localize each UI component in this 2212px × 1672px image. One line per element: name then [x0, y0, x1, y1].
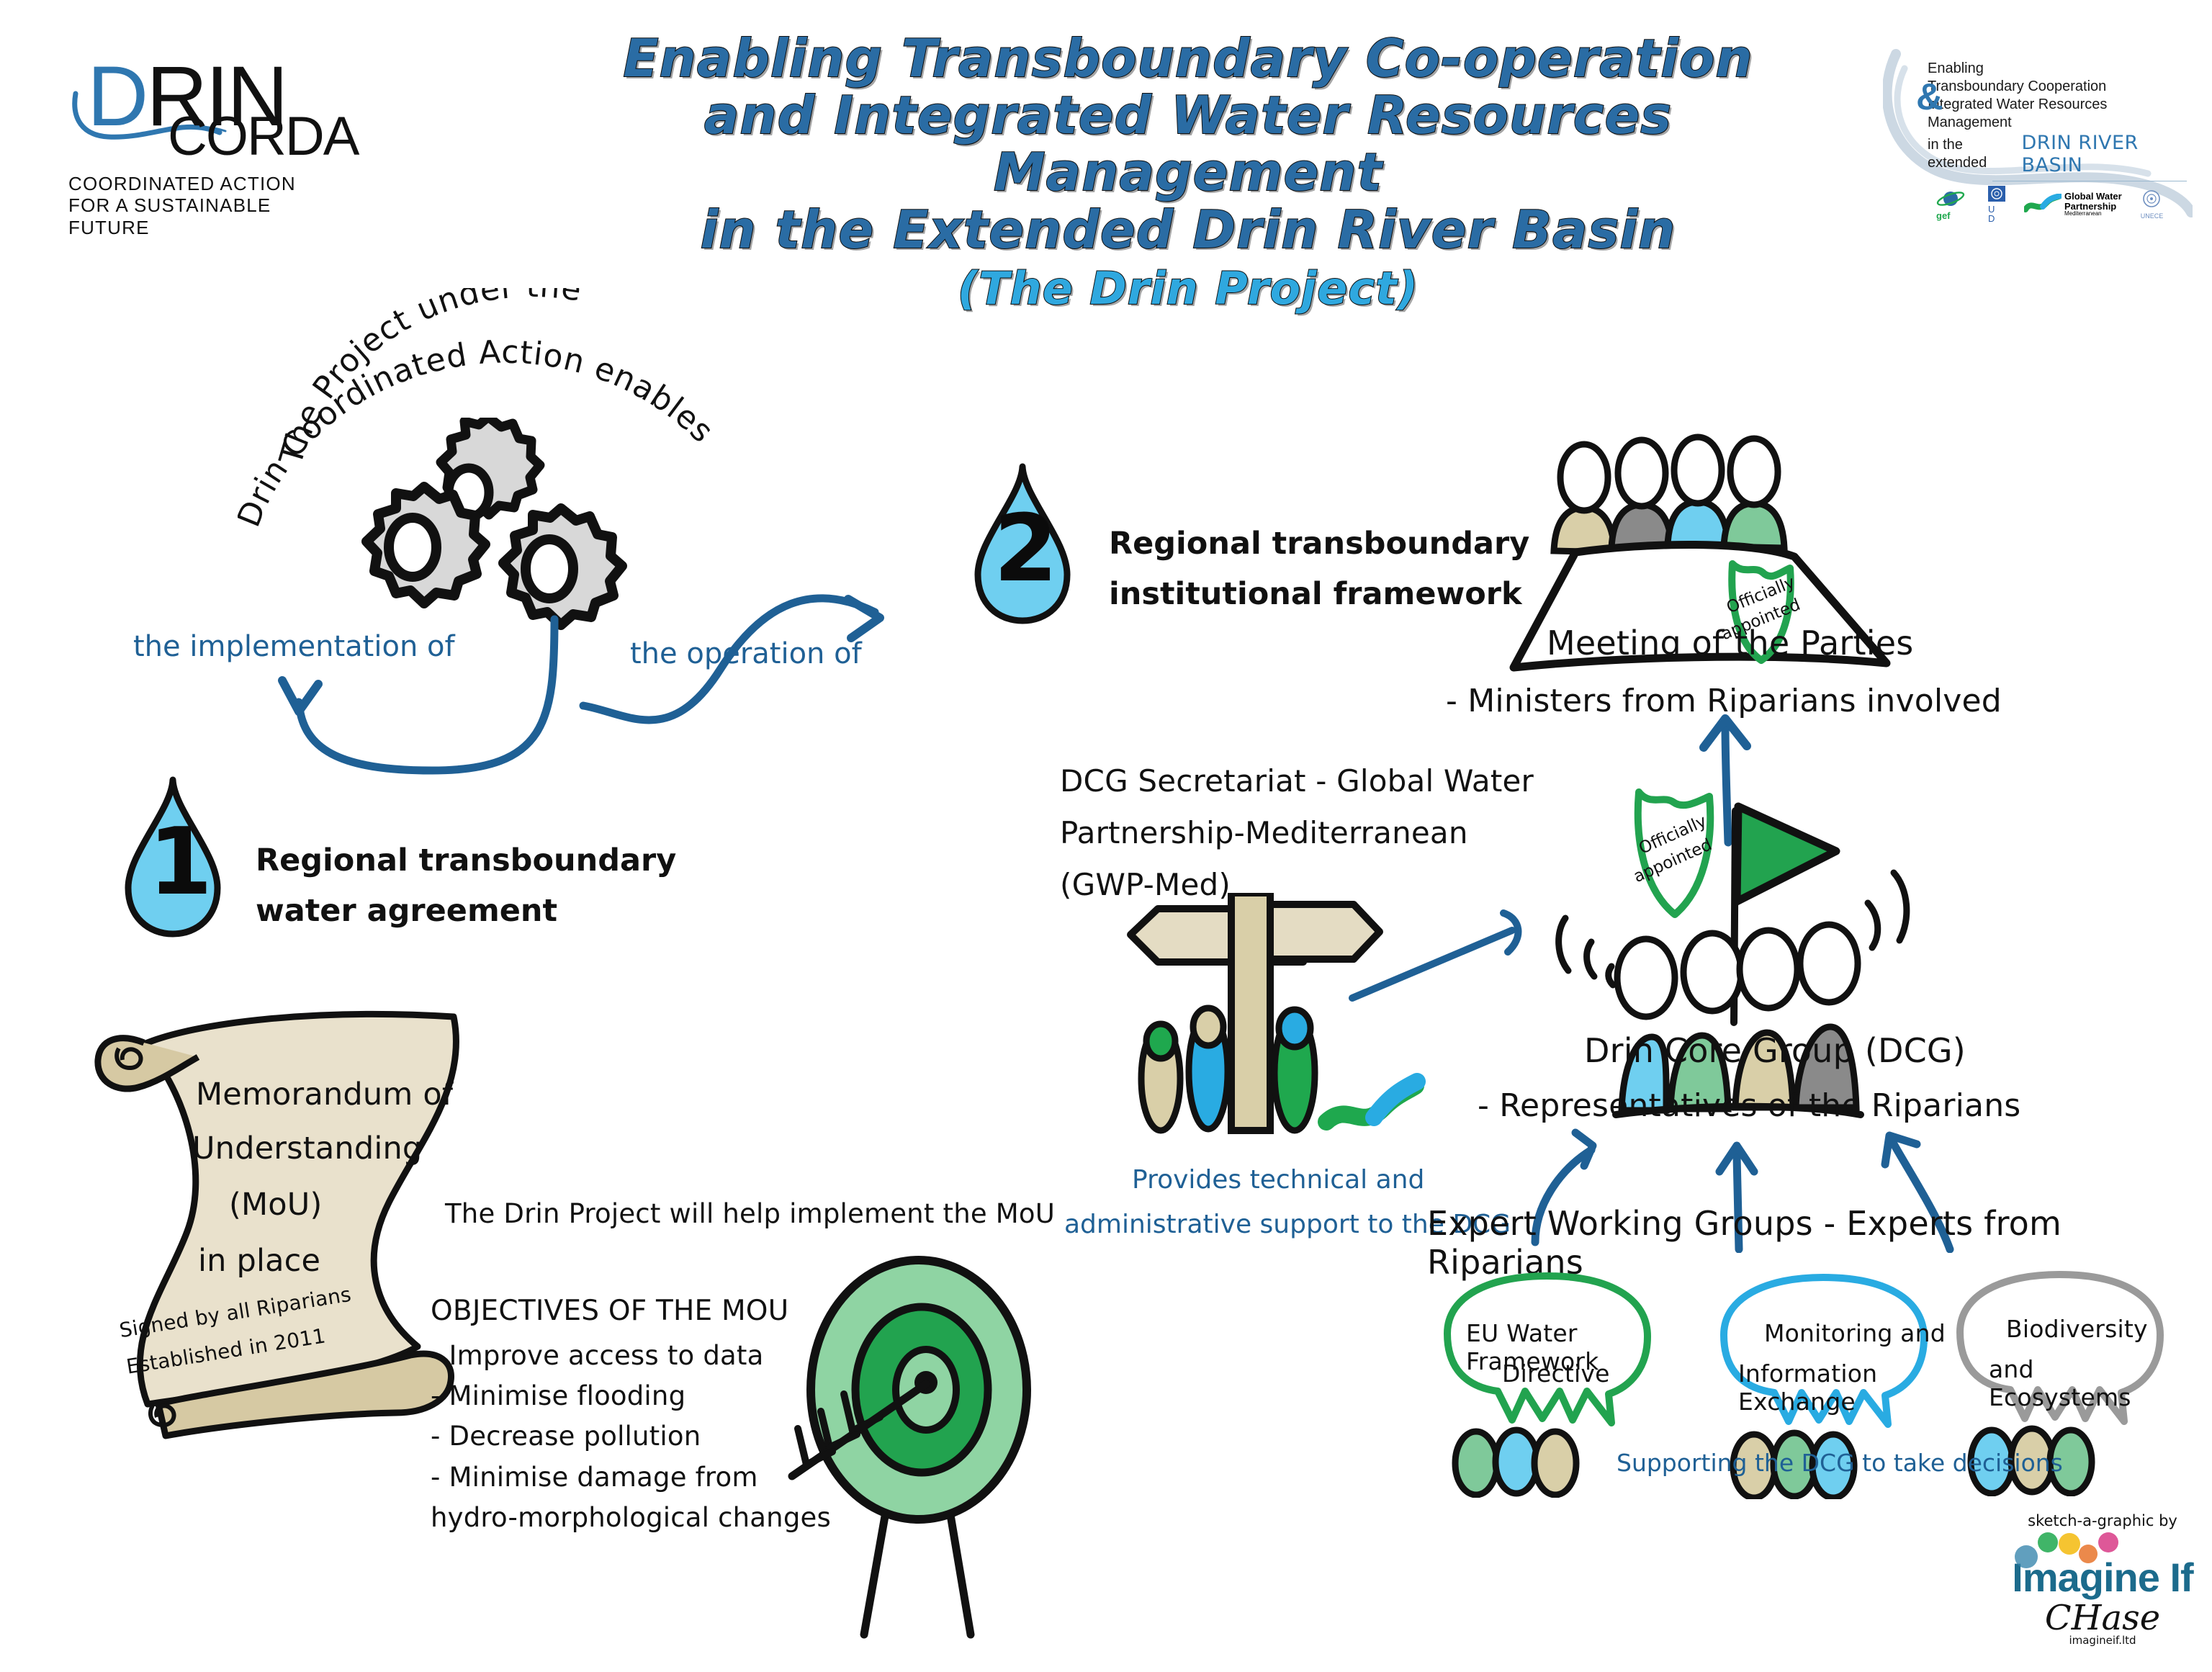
pillar-2-line2: institutional framework	[1109, 576, 1522, 612]
pillar-1-line2: water agreement	[256, 893, 557, 929]
ewg-1-line2: Directive	[1502, 1359, 1610, 1388]
un-emblem-icon	[1988, 186, 2005, 202]
secretariat-line-2: Partnership-Mediterranean	[1060, 815, 1468, 850]
objective-item: - Minimise damage from	[431, 1457, 831, 1498]
project-logo-line3: Integrated Water Resources Management	[1928, 96, 2187, 132]
pillar-2: 2	[965, 461, 1080, 629]
pillar-1-number: 1	[148, 809, 212, 916]
project-logo-line4-prefix: in the extended	[1928, 136, 2016, 172]
arrow-head-down	[282, 680, 318, 711]
secretariat-line-1: DCG Secretariat - Global Water	[1060, 763, 1534, 799]
decorative-dots-icon	[2008, 1532, 2188, 1568]
credit-prefix: sketch-a-graphic by	[2009, 1512, 2196, 1529]
ampersand-glyph: &	[1916, 76, 1943, 119]
gef-logo: gef	[1936, 189, 1969, 220]
ewg-caption: Supporting the DCG to take decisions	[1617, 1449, 2063, 1477]
target-leg-left	[864, 1512, 886, 1635]
secretariat-figure-1	[1141, 1024, 1180, 1131]
project-logo-line2: Transboundary Cooperation	[1928, 78, 2187, 96]
credit-signature: CHase	[2009, 1598, 2196, 1638]
unece-emblem-icon	[2141, 189, 2162, 210]
dcg-label: Drin Core Group (DCG)	[1584, 1031, 1966, 1070]
logo-corda-word: CORDA	[168, 105, 358, 168]
pillar-2-number: 2	[994, 495, 1058, 603]
dcg-flag	[1737, 806, 1836, 902]
mop-figure-3	[1668, 437, 1728, 547]
mou-line-3: (MoU)	[229, 1187, 322, 1223]
project-logo-block: & Enabling Transboundary Cooperation Int…	[1912, 54, 2185, 191]
gef-label: gef	[1936, 210, 1969, 221]
mou-line-1: Memorandum of	[196, 1077, 453, 1113]
pillar-2-line1: Regional transboundary	[1109, 526, 1529, 562]
objective-item: - Minimise flooding	[431, 1376, 831, 1416]
arrow-head-right	[848, 599, 880, 638]
gwp-wave-icon	[2024, 194, 2062, 215]
page-title: Enabling Transboundary Co-operation and …	[547, 30, 1829, 313]
pillar-1: 1	[115, 774, 230, 943]
title-line-2: and Integrated Water Resources Managemen…	[547, 87, 1829, 201]
logo-tagline-line1: COORDINATED ACTION	[68, 173, 296, 195]
ewg-1-people	[1455, 1430, 1576, 1495]
mou-line-2: Understanding	[192, 1131, 422, 1167]
objectives-list: - Improve access to data - Minimise floo…	[431, 1336, 831, 1538]
project-logo-line1: Enabling	[1928, 60, 2187, 78]
unece-label: UNECE	[2141, 212, 2164, 220]
dcg-figure-3	[1735, 930, 1797, 1107]
mop-figure-1	[1554, 444, 1614, 552]
branch-label-left: the implementation of	[133, 630, 455, 663]
credit-block: sketch-a-graphic by Imagine If CHase ima…	[2009, 1512, 2196, 1647]
mop-figure-4	[1724, 439, 1784, 548]
undp-logo: U D	[1988, 186, 2005, 223]
gwp-line3: Mediterranean	[2064, 211, 2122, 217]
secretariat-caption-1: Provides technical and	[1132, 1165, 1424, 1195]
mop-table-label: Meeting of the Parties	[1547, 624, 1913, 662]
signpost-post	[1231, 893, 1270, 1131]
unece-logo: UNECE	[2141, 189, 2164, 220]
partner-logos: gef U D Gl	[1928, 186, 2187, 223]
mou-line-4: in place	[198, 1243, 320, 1279]
undp-letter-d: D	[1988, 214, 2005, 223]
mop-figure-2	[1611, 440, 1672, 549]
secretariat-figure-3	[1274, 1010, 1315, 1131]
secretariat-figure-2	[1189, 1008, 1228, 1129]
dcg-figure-4	[1796, 925, 1858, 1107]
credit-signature-sub: imagineif.ltd	[2009, 1634, 2196, 1647]
dcg-caption: - Representatives of the Riparians	[1478, 1087, 2020, 1124]
mou-help-text: The Drin Project will help implement the…	[445, 1198, 1055, 1229]
target-leg-right	[949, 1506, 971, 1635]
pillar-1-line1: Regional transboundary	[256, 842, 676, 878]
title-line-1: Enabling Transboundary Co-operation	[547, 30, 1829, 87]
logo-letter-d: D	[87, 49, 146, 144]
objective-item: - Decrease pollution	[431, 1416, 831, 1457]
gwp-line1: Global Water	[2064, 192, 2122, 202]
branch-label-right: the operation of	[630, 637, 862, 670]
project-logo-divider	[1992, 181, 2187, 181]
ewg-2-line1: Monitoring and	[1764, 1319, 1946, 1347]
objectives-heading: OBJECTIVES OF THE MOU	[431, 1295, 788, 1327]
gwp-med-logo: Global Water Partnership Mediterranean	[2024, 192, 2122, 217]
logo-tagline-line2: FOR A SUSTAINABLE FUTURE	[68, 194, 342, 238]
drin-corda-logo: DRIN CORDA COORDINATED ACTION FOR A SUST…	[68, 50, 342, 216]
ewg-3-line2: and Ecosystems	[1989, 1355, 2182, 1411]
gwp-wave-blue	[1374, 1082, 1417, 1118]
ewg-3-line1: Biodiversity	[2006, 1315, 2148, 1343]
title-line-3: in the Extended Drin River Basin	[547, 202, 1829, 259]
gef-globe-icon	[1936, 189, 1969, 210]
gwp-line2: Partnership	[2064, 202, 2122, 212]
objective-item: - Improve access to data	[431, 1336, 831, 1376]
project-logo-basin: DRIN RIVER BASIN	[2022, 132, 2187, 176]
dcg-figure-1	[1617, 939, 1675, 1110]
credit-dots	[2009, 1529, 2196, 1558]
objective-item: hydro-morphological changes	[431, 1498, 831, 1538]
ewg-2-line2: Information Exchange	[1738, 1359, 1946, 1416]
target-illustration	[778, 1253, 1080, 1642]
